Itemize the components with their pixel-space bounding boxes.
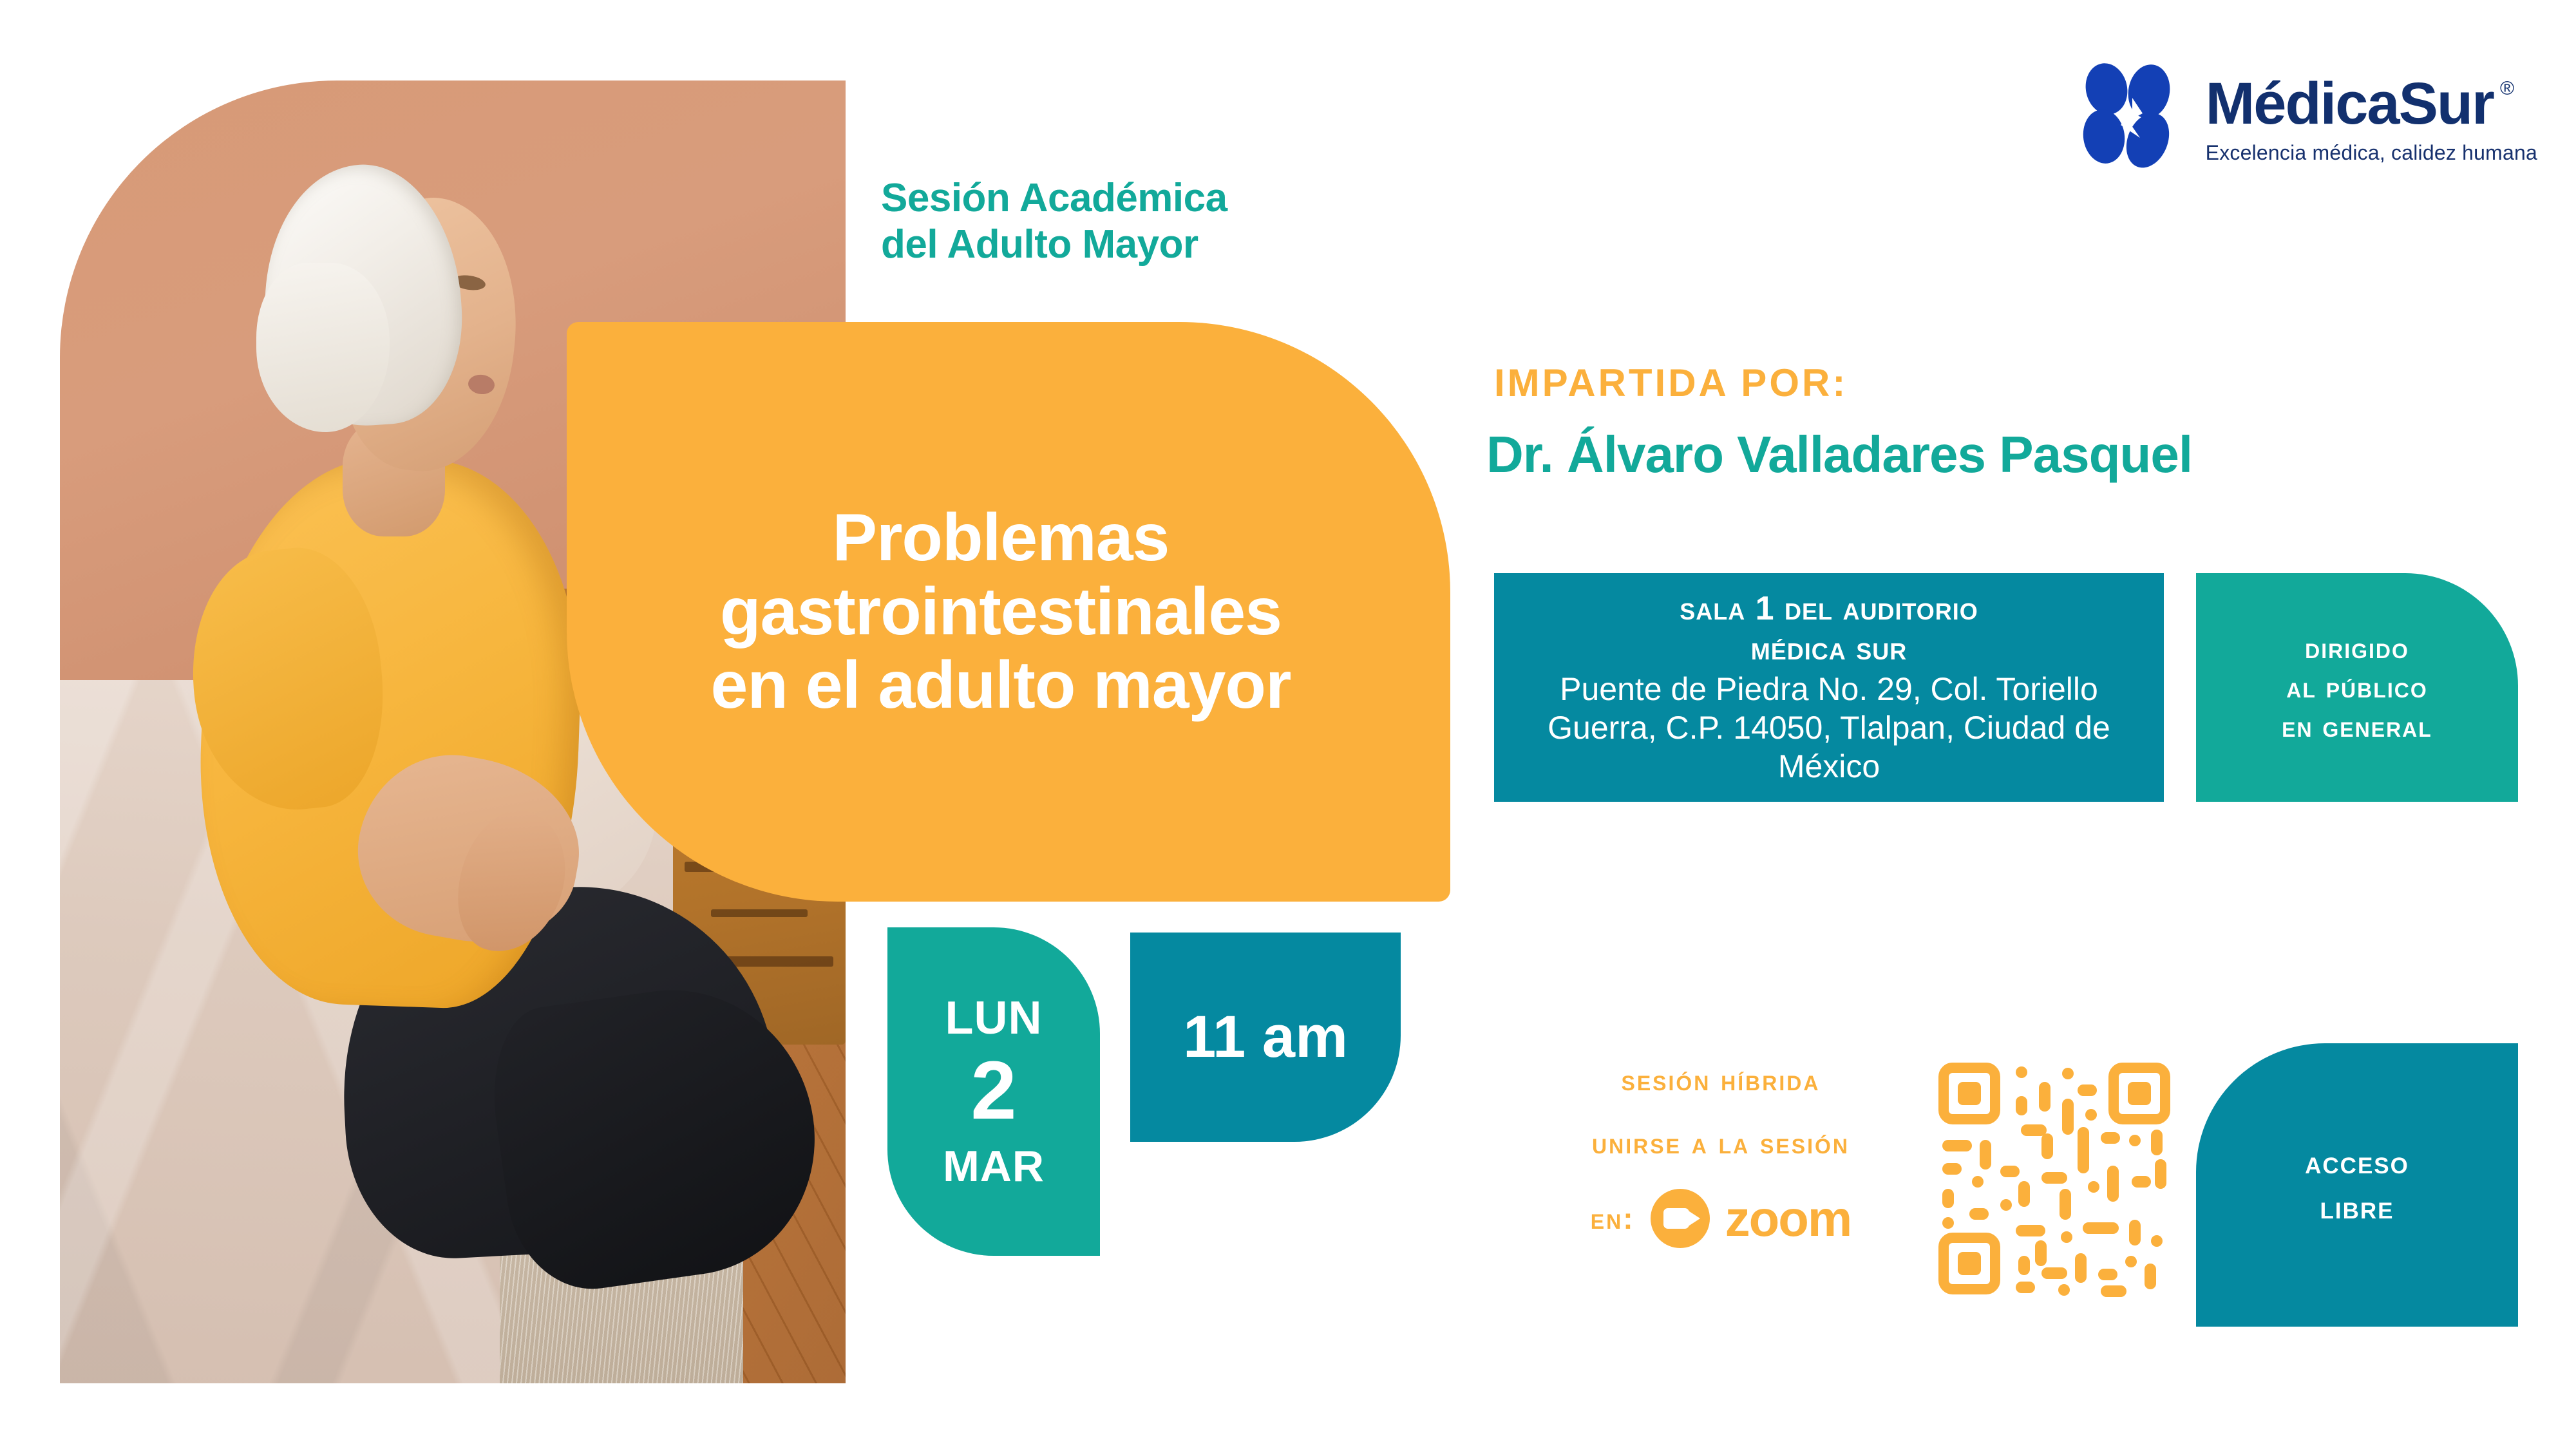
venue-address: Puente de Piedra No. 29, Col. Toriello G… (1513, 670, 2145, 786)
venue-box: Sala 1 del Auditorio Médica Sur Puente d… (1494, 573, 2164, 802)
access-line-1: Acceso (2305, 1140, 2409, 1185)
zoom-qr-code[interactable] (1938, 1063, 2170, 1294)
medicasur-logo: MédicaSur ® Excelencia médica, calidez h… (2073, 58, 2537, 180)
audience-line-2: al público (2286, 668, 2427, 707)
audience-line-3: en general (2282, 707, 2432, 746)
logo-tagline: Excelencia médica, calidez humana (2206, 141, 2537, 165)
page-title: Problemas gastrointestinales en el adult… (705, 501, 1313, 722)
title-line-2: gastrointestinales (720, 574, 1282, 649)
zoom-wordmark: zoom (1725, 1193, 1851, 1244)
kicker-line-1: Sesión Académica (881, 175, 1461, 222)
time-badge: 11 am (1130, 933, 1401, 1142)
date-day: 2 (971, 1050, 1016, 1132)
logo-name-text: MédicaSur (2206, 74, 2494, 133)
venue-line-1: Sala 1 del Auditorio (1680, 589, 1978, 629)
title-line-1: Problemas (833, 500, 1170, 575)
photo-person-hair-side (256, 263, 390, 432)
kicker-line-2: del Adulto Mayor (881, 222, 1461, 268)
hybrid-line-2: unirse a la sesión (1450, 1126, 1991, 1160)
date-badge: LUN 2 MAR (887, 927, 1100, 1256)
flyer-canvas: Sesión Académica del Adulto Mayor Proble… (0, 0, 2576, 1449)
medicasur-wordmark: MédicaSur ® Excelencia médica, calidez h… (2206, 74, 2537, 165)
audience-line-1: Dirigido (2305, 629, 2409, 668)
date-month: MAR (943, 1141, 1045, 1191)
medicasur-petals-icon (2073, 58, 2189, 180)
venue-line-2: Médica Sur (1751, 629, 1907, 668)
access-line-2: libre (2320, 1185, 2394, 1230)
hybrid-session-block: Sesión híbrida unirse a la sesión en: zo… (1450, 1063, 1991, 1248)
title-line-3: en el adulto mayor (711, 648, 1291, 723)
zoom-camera-icon (1651, 1189, 1710, 1248)
audience-badge: Dirigido al público en general (2196, 573, 2518, 802)
time-value: 11 am (1183, 1003, 1348, 1071)
zoom-row[interactable]: en: zoom (1450, 1189, 1991, 1248)
date-weekday: LUN (945, 992, 1043, 1045)
event-kicker: Sesión Académica del Adulto Mayor (881, 175, 1461, 268)
registered-mark-icon: ® (2500, 78, 2514, 100)
speaker-label: IMPARTIDA POR: (1494, 361, 1848, 405)
hybrid-line-1: Sesión híbrida (1450, 1063, 1991, 1097)
title-banner: Problemas gastrointestinales en el adult… (567, 322, 1450, 902)
access-badge: Acceso libre (2196, 1043, 2518, 1327)
hybrid-prefix: en: (1591, 1201, 1635, 1236)
speaker-name: Dr. Álvaro Valladares Pasquel (1486, 425, 2192, 484)
